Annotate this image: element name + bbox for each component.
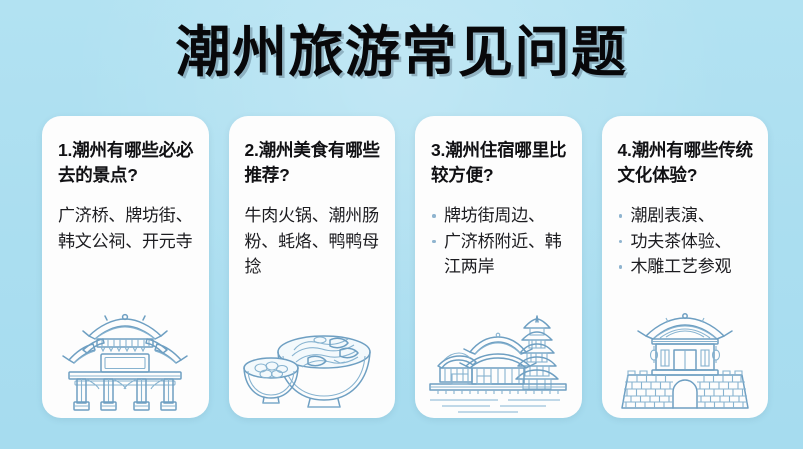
card-1-text-block: 1.潮州有哪些必必去的景点? 广济桥、牌坊街、韩文公祠、开元寺: [42, 116, 209, 254]
faq-card-3[interactable]: 3.潮州住宿哪里比较方便? 牌坊街周边、 广济桥附近、韩江两岸: [415, 116, 582, 418]
faq-card-2[interactable]: 2.潮州美食有哪些推荐? 牛肉火锅、潮州肠粉、蚝烙、鸭鸭母捻: [229, 116, 396, 418]
list-item: 广济桥附近、韩江两岸: [431, 229, 568, 280]
list-item: 潮剧表演、: [618, 203, 755, 229]
card-1-answer: 广济桥、牌坊街、韩文公祠、开元寺: [58, 203, 195, 254]
card-2-answer: 牛肉火锅、潮州肠粉、蚝烙、鸭鸭母捻: [245, 203, 382, 280]
faq-card-4[interactable]: 4.潮州有哪些传统文化体验? 潮剧表演、 功夫茶体验、 木雕工艺参观: [602, 116, 769, 418]
card-4-answer-list: 潮剧表演、 功夫茶体验、 木雕工艺参观: [618, 203, 755, 280]
card-2-text-block: 2.潮州美食有哪些推荐? 牛肉火锅、潮州肠粉、蚝烙、鸭鸭母捻: [229, 116, 396, 280]
card-3-text-block: 3.潮州住宿哪里比较方便? 牌坊街周边、 广济桥附近、韩江两岸: [415, 116, 582, 280]
faq-card-list: 1.潮州有哪些必必去的景点? 广济桥、牌坊街、韩文公祠、开元寺: [42, 116, 768, 418]
city-gate-illustration: [602, 300, 769, 418]
card-1-question: 1.潮州有哪些必必去的景点?: [58, 138, 195, 188]
card-4-question: 4.潮州有哪些传统文化体验?: [618, 138, 755, 188]
card-3-question: 3.潮州住宿哪里比较方便?: [431, 138, 568, 188]
pagoda-riverside-illustration: [415, 300, 582, 418]
list-item: 牌坊街周边、: [431, 203, 568, 229]
list-item: 功夫茶体验、: [618, 229, 755, 255]
list-item: 木雕工艺参观: [618, 254, 755, 280]
card-2-question: 2.潮州美食有哪些推荐?: [245, 138, 382, 188]
faq-card-1[interactable]: 1.潮州有哪些必必去的景点? 广济桥、牌坊街、韩文公祠、开元寺: [42, 116, 209, 418]
paifang-archway-illustration: [42, 300, 209, 418]
food-bowls-illustration: [229, 300, 396, 418]
card-4-text-block: 4.潮州有哪些传统文化体验? 潮剧表演、 功夫茶体验、 木雕工艺参观: [602, 116, 769, 280]
card-3-answer-list: 牌坊街周边、 广济桥附近、韩江两岸: [431, 203, 568, 280]
page-title: 潮州旅游常见问题: [0, 18, 803, 86]
